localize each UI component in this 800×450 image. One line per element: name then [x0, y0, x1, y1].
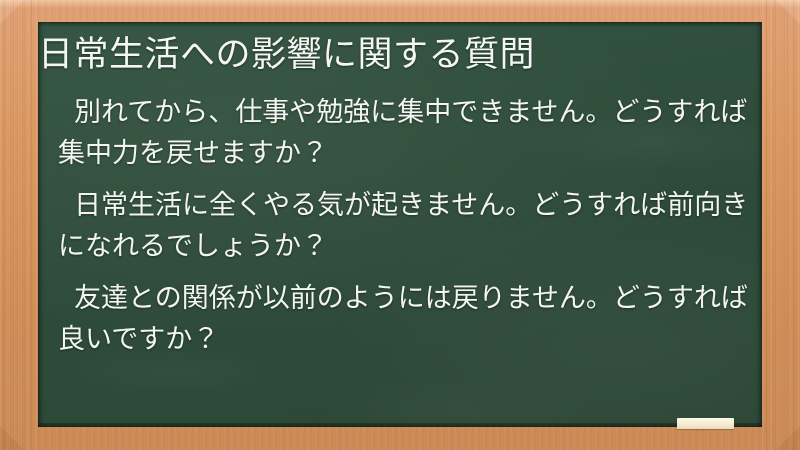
chalkboard-surface: 日常生活への影響に関する質問 別れてから、仕事や勉強に集中できません。どうすれば…	[38, 22, 762, 427]
question-item: 友達との関係が以前のようには戻りません。どうすれば良いですか？	[58, 278, 758, 360]
slide-title: 日常生活への影響に関する質問	[38, 32, 738, 78]
question-item: 日常生活に全くやる気が起きません。どうすれば前向きになれるでしょうか？	[58, 185, 758, 267]
chalkboard-slide: 日常生活への影響に関する質問 別れてから、仕事や勉強に集中できません。どうすれば…	[0, 0, 800, 450]
question-list: 別れてから、仕事や勉強に集中できません。どうすれば集中力を戻せますか？ 日常生活…	[58, 92, 758, 371]
chalk-stick-icon	[677, 418, 734, 429]
slide-content: 日常生活への影響に関する質問 別れてから、仕事や勉強に集中できません。どうすれば…	[38, 22, 762, 427]
question-item: 別れてから、仕事や勉強に集中できません。どうすれば集中力を戻せますか？	[58, 92, 758, 174]
